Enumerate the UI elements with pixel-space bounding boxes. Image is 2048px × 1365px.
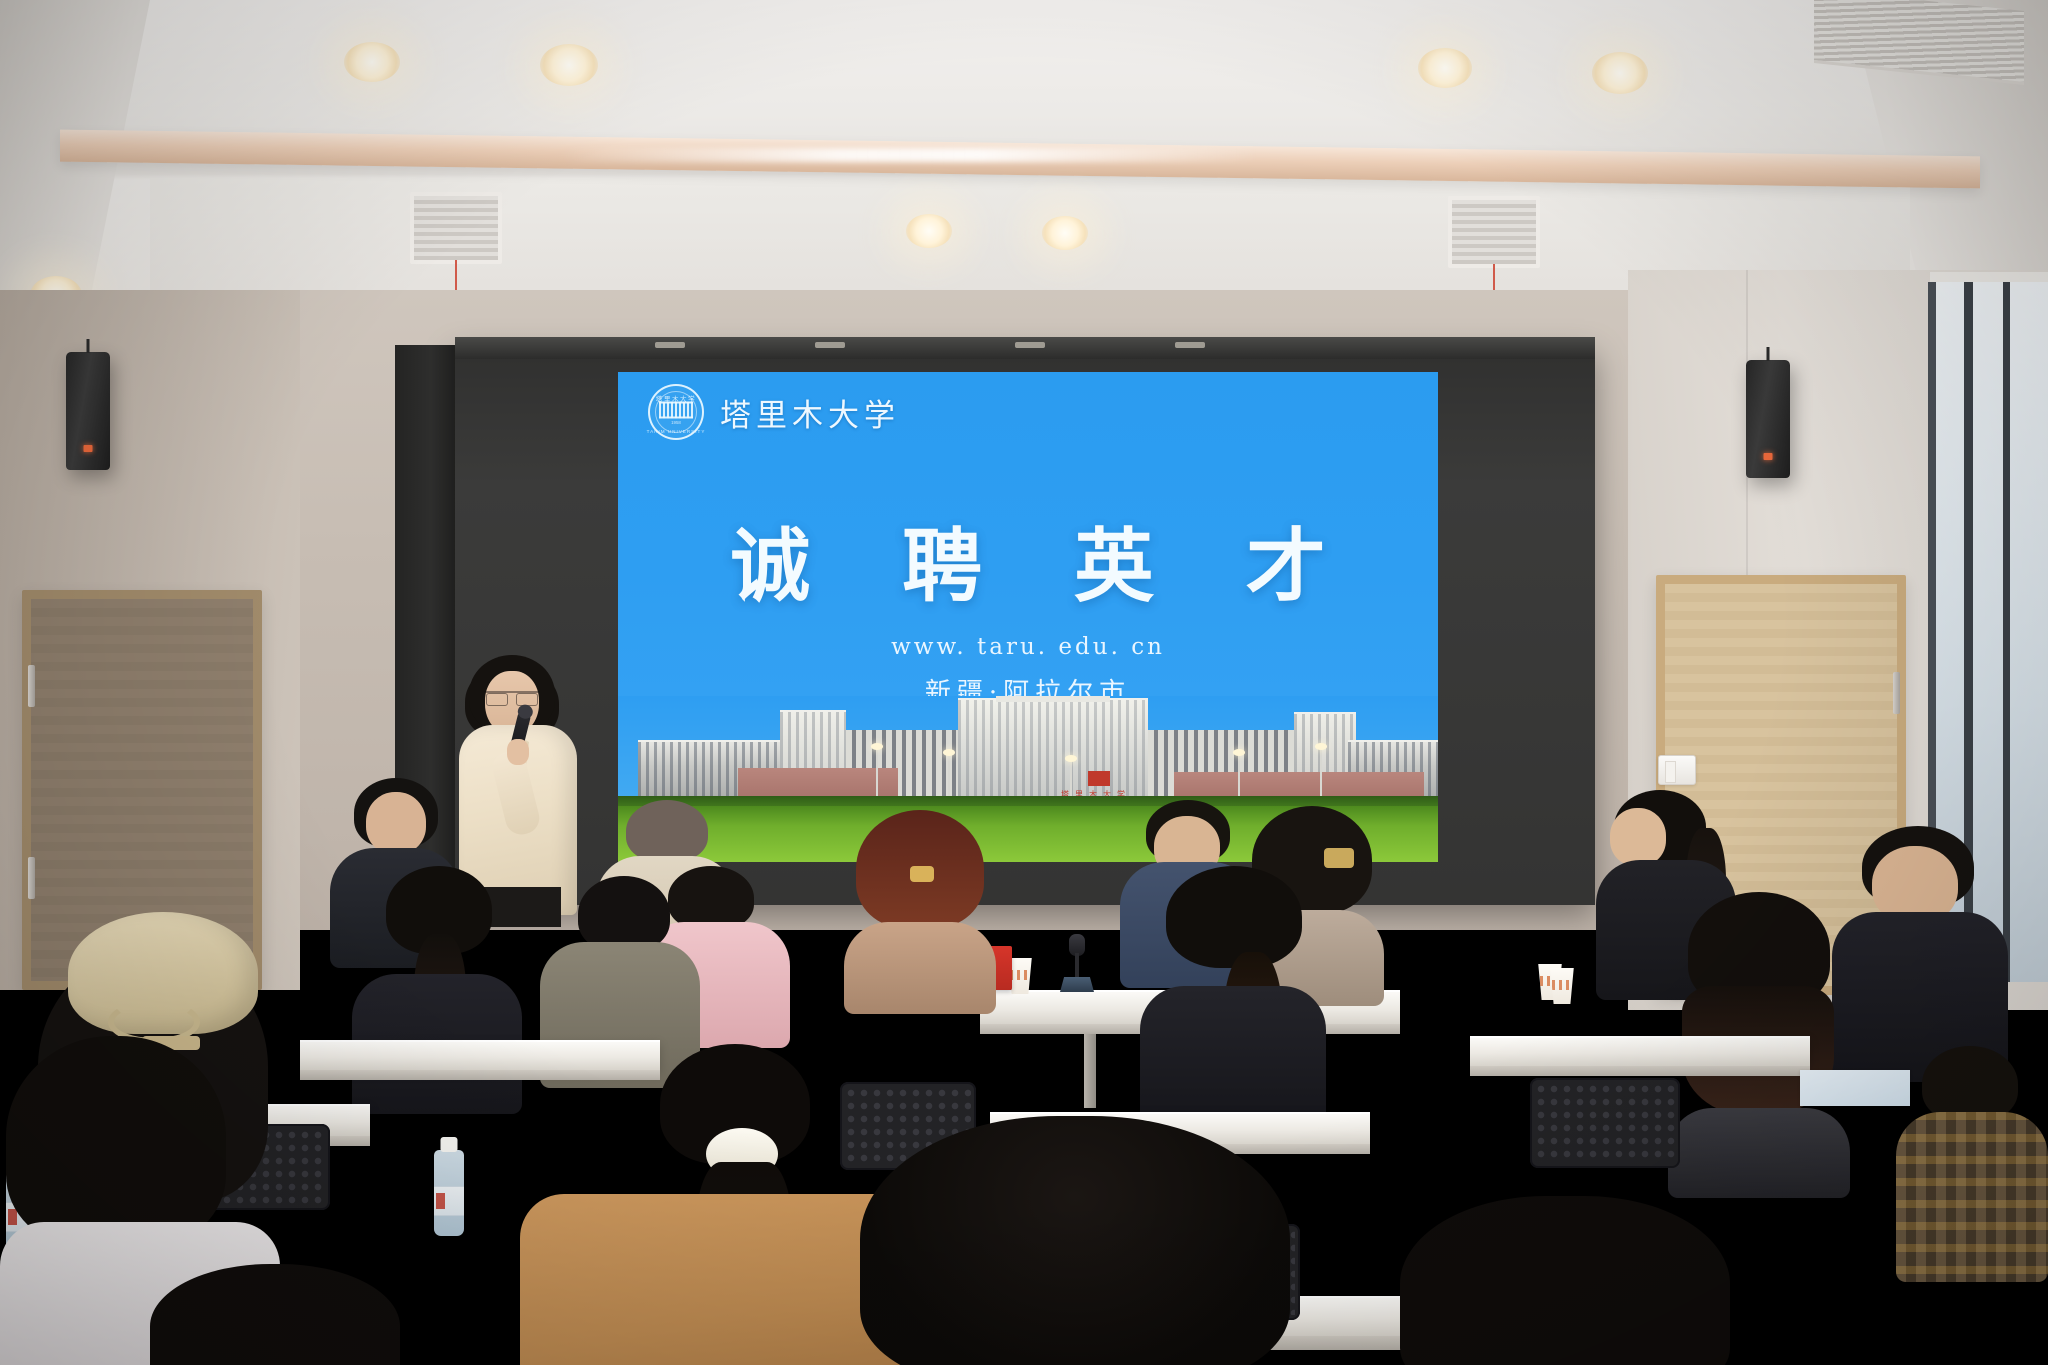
desk-edge xyxy=(1470,1066,1810,1076)
audience-person-foreground xyxy=(1400,1196,1730,1365)
desk-leg xyxy=(1084,1034,1096,1108)
chair-back xyxy=(1530,1078,1680,1168)
door-hinge-icon xyxy=(28,857,35,899)
paper-stack xyxy=(1800,1070,1910,1106)
slide-university-name: 塔里木大学 xyxy=(720,390,900,435)
speaker-led-icon xyxy=(1764,453,1773,460)
speaker-led-icon xyxy=(84,445,93,452)
water-bottle xyxy=(434,1150,464,1236)
lamp-post-icon xyxy=(1320,750,1322,796)
glasses-icon xyxy=(486,691,538,702)
light-switch[interactable] xyxy=(1658,755,1696,785)
crest-building-motif xyxy=(659,401,693,418)
slide-url: www. taru. edu. cn xyxy=(618,634,1438,660)
downlight-icon xyxy=(1418,48,1472,88)
desk-row xyxy=(1470,1036,1810,1066)
lamp-post-icon xyxy=(948,756,950,796)
downlight-icon xyxy=(540,44,598,86)
slide-brand-row: 塔里木大学 1958 TARIM UNIVERSITY 塔里木大学 xyxy=(648,384,900,440)
audience-person xyxy=(840,810,1000,1000)
ceiling-vent-right xyxy=(1448,196,1540,268)
presenter-hand xyxy=(507,739,529,765)
audience-person xyxy=(1896,1046,2048,1276)
audience-person-foreground xyxy=(860,1116,1290,1365)
lamp-post-icon xyxy=(1238,756,1240,796)
audience-person xyxy=(1666,892,1852,1172)
slide-headline: 诚 聘 英 才 xyxy=(618,502,1438,618)
wall-speaker-left xyxy=(66,352,110,470)
downlight-icon xyxy=(1042,216,1088,250)
door-hinge-icon xyxy=(1893,672,1900,714)
wall-speaker-right xyxy=(1746,360,1790,478)
beam-light-glow xyxy=(560,148,1260,162)
door-hinge-icon xyxy=(28,665,35,707)
downlight-icon xyxy=(344,42,400,82)
university-crest-icon: 塔里木大学 1958 TARIM UNIVERSITY xyxy=(648,384,704,440)
audience-person xyxy=(1832,826,2008,1066)
downlight-icon xyxy=(1592,52,1648,94)
audience-person xyxy=(1140,866,1326,1126)
audience-person-foreground xyxy=(150,1264,400,1365)
crest-bottom-text: TARIM UNIVERSITY xyxy=(647,429,706,434)
conference-microphone xyxy=(1060,936,1094,992)
crest-year: 1958 xyxy=(671,420,681,425)
campus-flag-icon xyxy=(1088,771,1110,786)
conference-room-scene: 塔里木大学 1958 TARIM UNIVERSITY 塔里木大学 诚 聘 英 … xyxy=(0,0,2048,1365)
screen-top-rail xyxy=(455,337,1595,359)
lamp-post-icon xyxy=(876,750,878,796)
projected-slide: 塔里木大学 1958 TARIM UNIVERSITY 塔里木大学 诚 聘 英 … xyxy=(618,372,1438,862)
downlight-icon xyxy=(906,214,952,248)
ceiling-vent-left xyxy=(410,192,502,264)
